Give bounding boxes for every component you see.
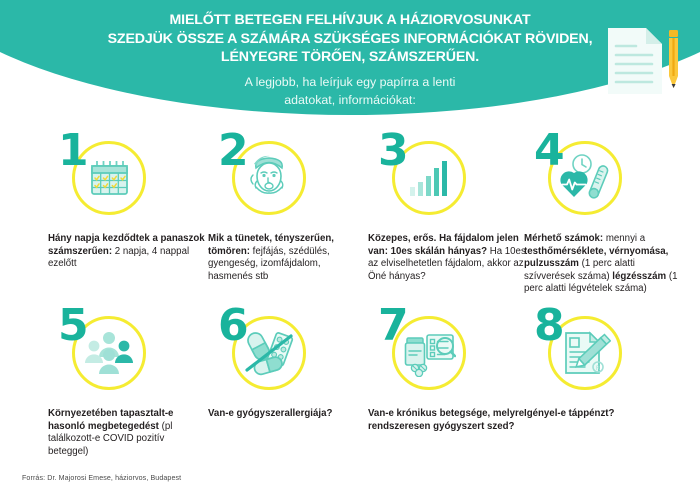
card-6: 6 bbox=[208, 308, 376, 421]
card-2: 2 bbox=[208, 133, 376, 283]
card-4-number: 4 bbox=[534, 129, 564, 173]
card-2-text: Mik a tünetek, tényszerűen, tömören: fej… bbox=[208, 233, 366, 283]
card-3-number: 3 bbox=[378, 129, 408, 173]
card-5-bold: Környezetében tapasztalt-e hasonló megbe… bbox=[48, 408, 173, 432]
card-7: 7 bbox=[368, 308, 536, 433]
thermometer-icon bbox=[588, 165, 609, 200]
card-4-bold-3: légzésszám bbox=[612, 271, 666, 282]
card-2-number: 2 bbox=[218, 129, 248, 173]
header-title-line-3: LÉNYEGRE TÖRŐEN, SZÁMSZERŰEN. bbox=[0, 48, 700, 67]
card-7-badge: 7 bbox=[378, 308, 470, 400]
source-footer: Forrás: Dr. Majorosi Emese, háziorvos, B… bbox=[22, 474, 181, 482]
pill-bottle-icon bbox=[406, 338, 427, 377]
card-8-bold: Igényel-e táppénzt? bbox=[524, 408, 614, 419]
card-4-bold: Mérhető számok: bbox=[524, 233, 603, 244]
card-1: 1 bbox=[48, 133, 216, 271]
card-6-bold: Van-e gyógyszerallergiája? bbox=[208, 408, 332, 419]
card-5-number: 5 bbox=[58, 304, 88, 348]
header-subtitle-line-1: A legjobb, ha leírjuk egy papírra a lent… bbox=[0, 73, 700, 91]
card-4-badge: 4 bbox=[534, 133, 626, 225]
card-1-badge: 1 bbox=[58, 133, 150, 225]
card-8-number: 8 bbox=[534, 304, 564, 348]
card-5-text: Környezetében tapasztalt-e hasonló megbe… bbox=[48, 408, 206, 458]
card-6-number: 6 bbox=[218, 304, 248, 348]
card-1-text: Hány napja kezdődtek a panaszok számszer… bbox=[48, 233, 206, 271]
cards-row-1: 1 bbox=[0, 133, 700, 308]
card-8: 8 bbox=[524, 308, 692, 421]
card-6-text: Van-e gyógyszerallergiája? bbox=[208, 408, 366, 421]
card-1-number: 1 bbox=[58, 129, 88, 173]
cards-grid: 1 bbox=[0, 133, 700, 483]
header-text-block: MIELŐTT BETEGEN FELHÍVJUK A HÁZIORVOSUNK… bbox=[0, 0, 700, 135]
heart-icon bbox=[560, 171, 587, 197]
header-subtitle-line-2: adatokat, információkat: bbox=[0, 91, 700, 109]
svg-text:R: R bbox=[596, 365, 600, 372]
card-8-badge: 8 bbox=[534, 308, 626, 400]
card-5-badge: 5 bbox=[58, 308, 150, 400]
card-6-badge: 6 bbox=[218, 308, 310, 400]
header-title-line-2: SZEDJÜK ÖSSZE A SZÁMÁRA SZÜKSÉGES INFORM… bbox=[0, 30, 700, 49]
card-3: 3 Közepes, erős. Ha fájdalom jelen van: … bbox=[368, 133, 536, 283]
card-4: 4 bbox=[524, 133, 692, 296]
card-7-bold: Van-e krónikus betegsége, melyre rendsze… bbox=[368, 408, 524, 432]
infographic-root: MIELŐTT BETEGEN FELHÍVJUK A HÁZIORVOSUNK… bbox=[0, 0, 700, 495]
card-8-text: Igényel-e táppénzt? bbox=[524, 408, 682, 421]
card-4-text: Mérhető számok: mennyi a testhőmérséklet… bbox=[524, 233, 682, 296]
card-3-text: Közepes, erős. Ha fájdalom jelen van: 10… bbox=[368, 233, 526, 283]
card-7-text: Van-e krónikus betegsége, melyre rendsze… bbox=[368, 408, 526, 433]
clock-icon bbox=[573, 155, 591, 173]
cards-row-2: 5 bbox=[0, 308, 700, 483]
card-2-badge: 2 bbox=[218, 133, 310, 225]
card-5: 5 bbox=[48, 308, 216, 458]
card-7-number: 7 bbox=[378, 304, 408, 348]
card-3-badge: 3 bbox=[378, 133, 470, 225]
header-title-line-1: MIELŐTT BETEGEN FELHÍVJUK A HÁZIORVOSUNK… bbox=[0, 11, 700, 30]
card-4-plain: mennyi a bbox=[603, 233, 645, 244]
header-banner: MIELŐTT BETEGEN FELHÍVJUK A HÁZIORVOSUNK… bbox=[0, 0, 700, 135]
